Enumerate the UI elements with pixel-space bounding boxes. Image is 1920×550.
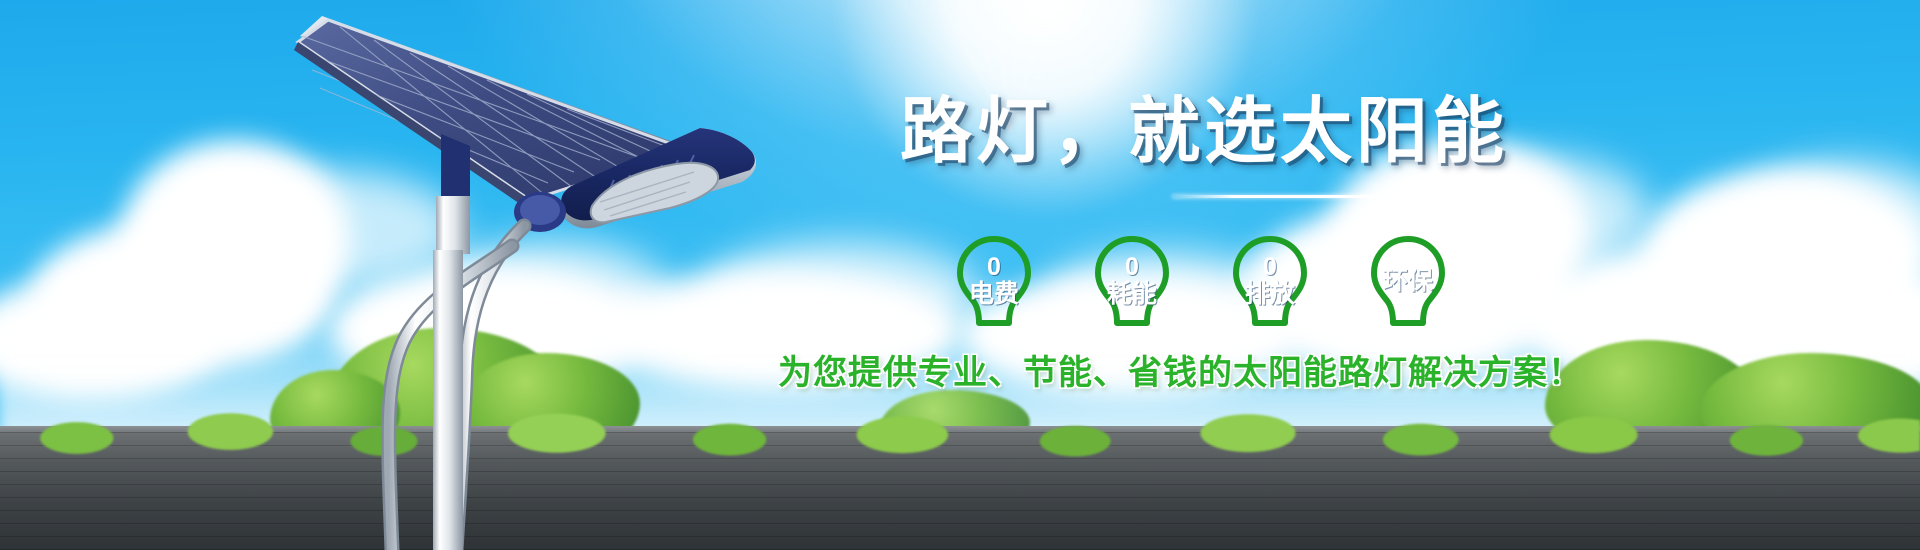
badge-label: 电费 (969, 281, 1019, 307)
badge-number: 0 (987, 255, 1001, 280)
badge-label: 环保 (1383, 268, 1433, 294)
feature-badge: 0 耗能 (1088, 232, 1176, 330)
feature-badge: 0 电费 (950, 232, 1038, 330)
feature-badge: 环保 (1364, 232, 1452, 330)
feature-badge-list: 0 电费 0 耗能 0 排放 (950, 232, 1452, 330)
badge-label: 耗能 (1107, 281, 1157, 307)
badge-number: 0 (1125, 255, 1139, 280)
headline-divider (1172, 195, 1454, 198)
banner-tagline: 为您提供专业、节能、省钱的太阳能路灯解决方案！ (778, 356, 1583, 390)
page-title: 路灯，就选太阳能 (900, 96, 1508, 168)
green-hedge (0, 382, 1920, 462)
feature-badge: 0 排放 (1226, 232, 1314, 330)
badge-number: 0 (1263, 255, 1277, 280)
badge-label: 排放 (1245, 281, 1295, 307)
solar-streetlight-banner: 路灯，就选太阳能 0 电费 0 耗能 0 (0, 0, 1920, 550)
